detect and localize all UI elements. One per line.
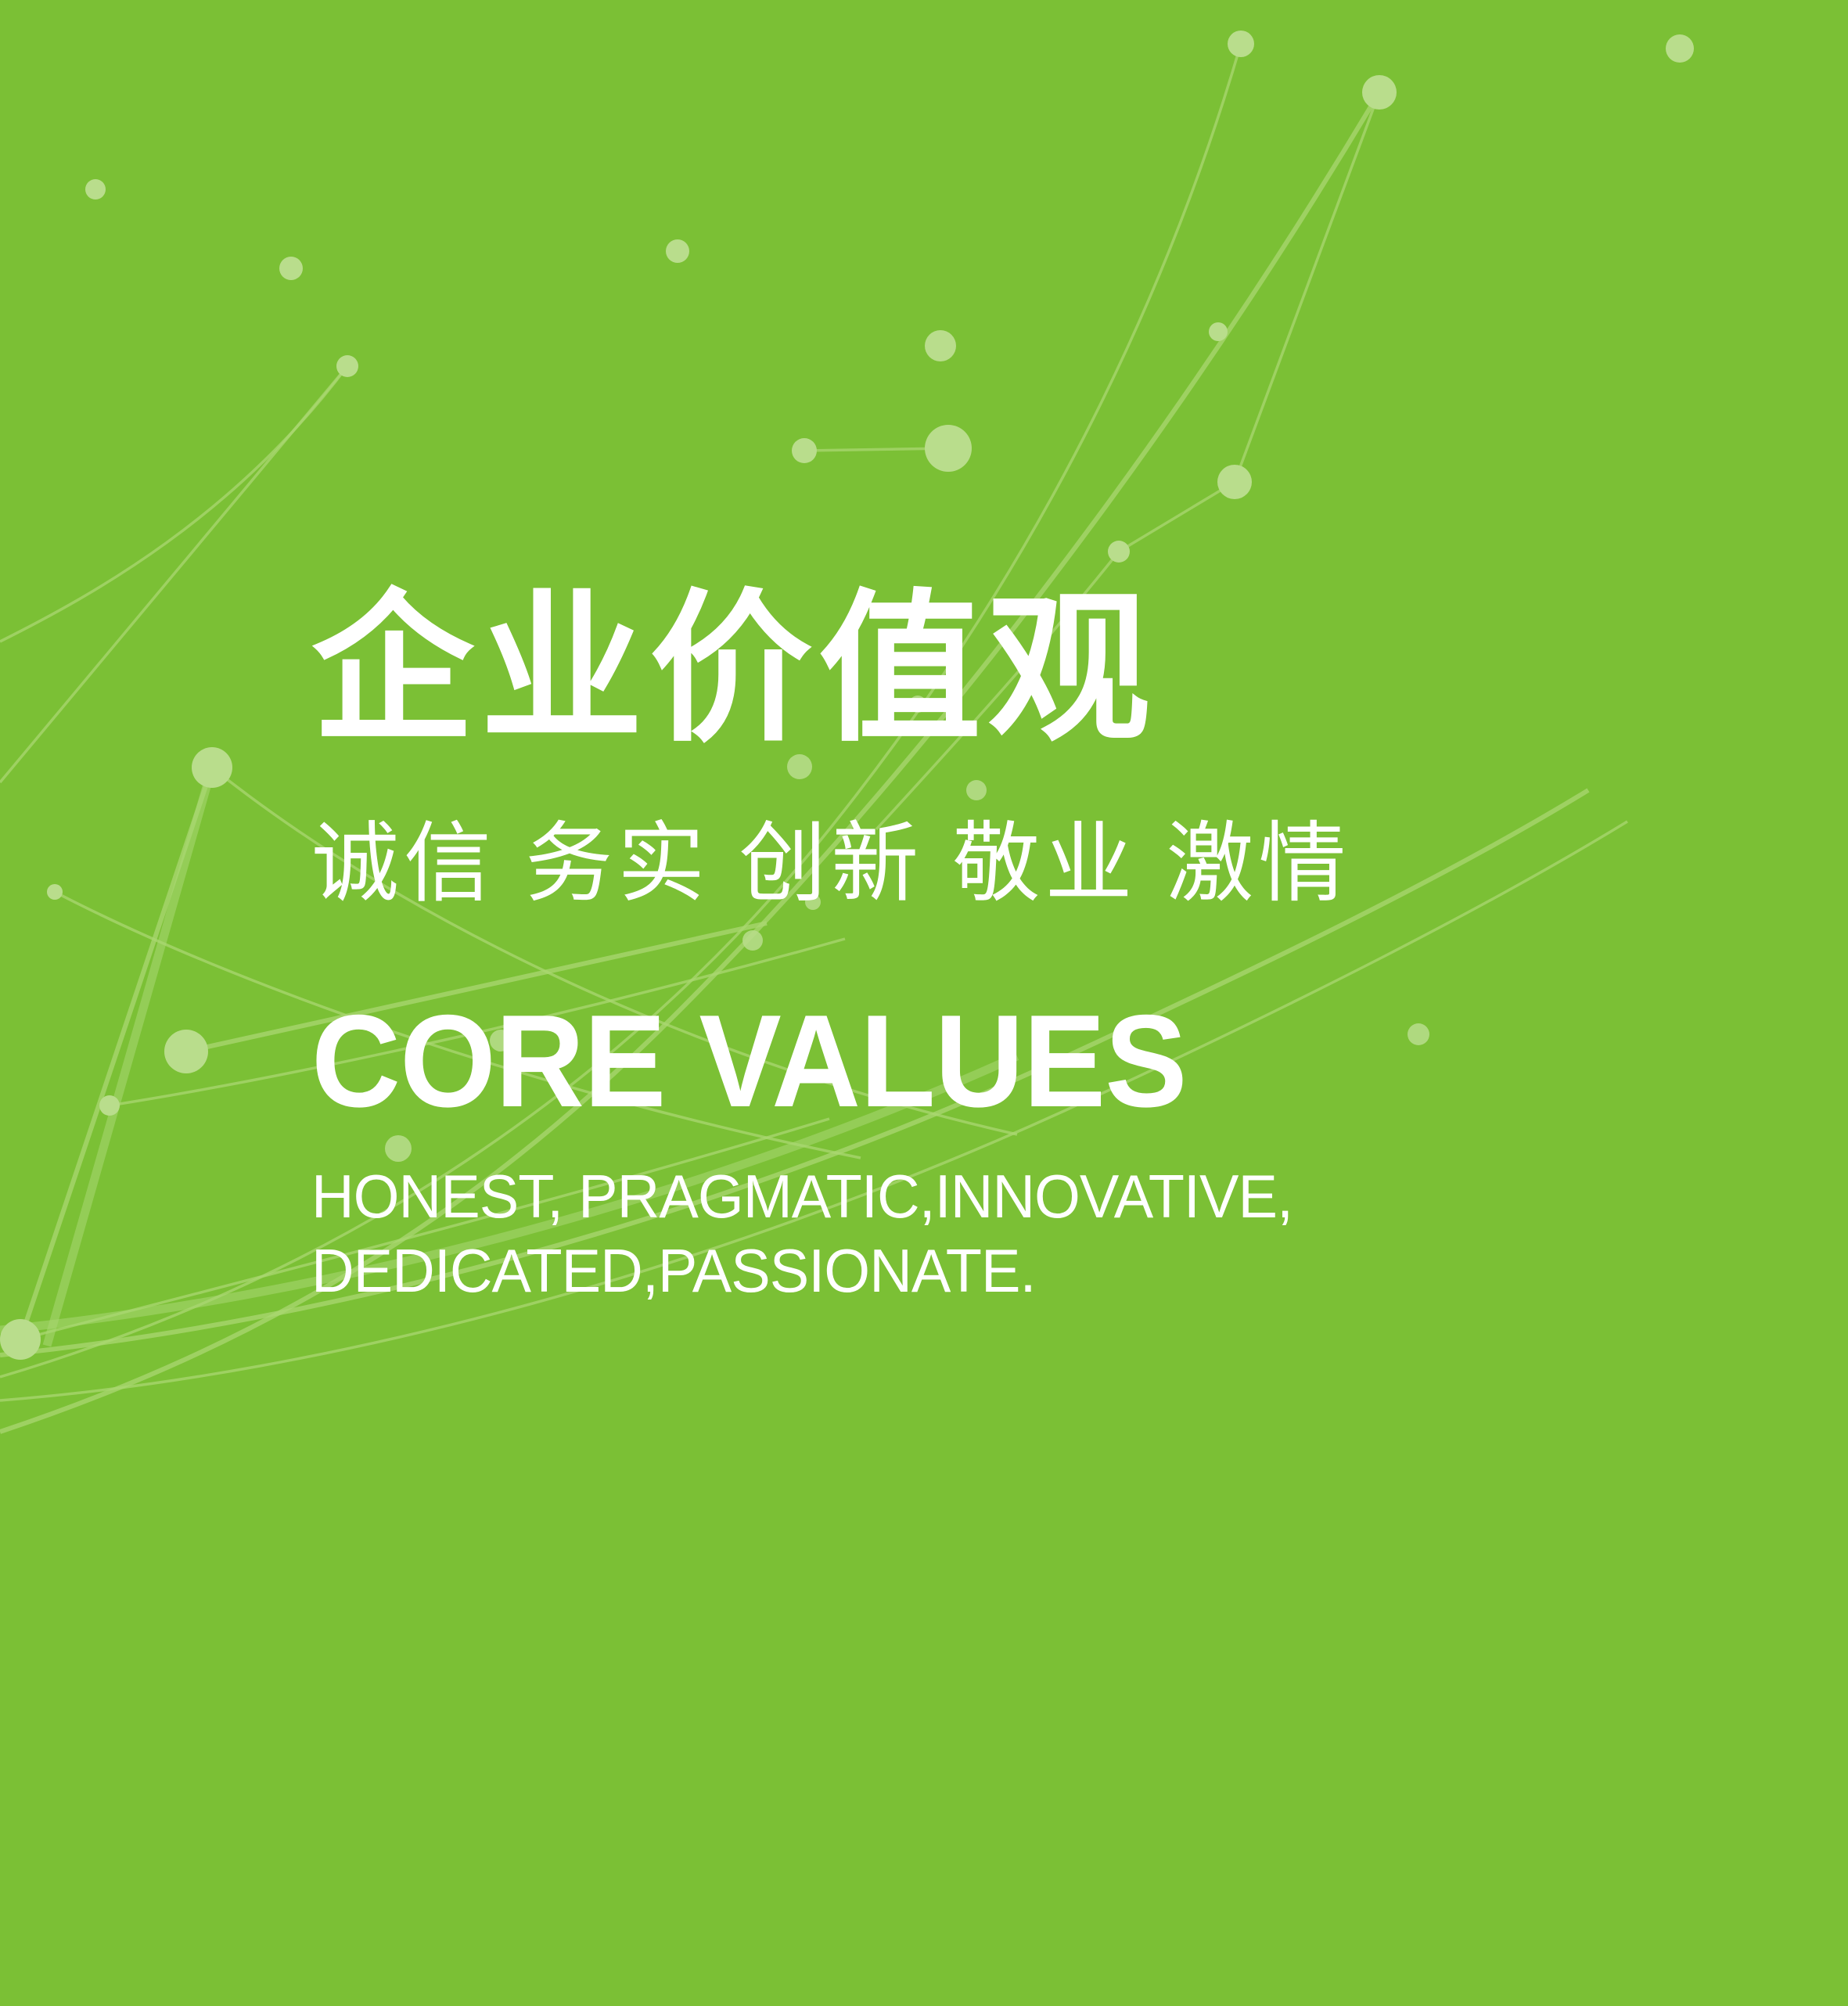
network-node: [1108, 541, 1130, 563]
network-node: [99, 1095, 120, 1116]
network-node: [164, 1030, 208, 1073]
network-node: [925, 425, 972, 472]
network-node: [0, 1319, 41, 1360]
edge-cluster-a: [47, 768, 212, 1346]
network-node: [1228, 31, 1254, 57]
network-node: [1362, 75, 1397, 110]
network-node: [666, 239, 689, 263]
edge-right-e: [0, 366, 347, 782]
network-node: [1209, 322, 1228, 341]
subtitle-chinese: 诚信 务实 创新 敬业 激情: [311, 820, 1688, 908]
network-node: [279, 257, 303, 280]
edge-right-a: [1235, 92, 1379, 482]
network-node: [1666, 34, 1694, 63]
network-node: [336, 355, 358, 377]
page-title-chinese: 企业价值观: [311, 588, 1688, 751]
network-node: [85, 179, 106, 200]
network-node: [925, 330, 956, 361]
edge-right-b: [1119, 482, 1235, 552]
network-node: [1217, 465, 1252, 499]
body-text-english: HONEST, PRAGMATIC,INNOVATIVE, DEDICATED,…: [311, 1159, 1647, 1308]
network-node: [792, 438, 817, 463]
poster-canvas: .nline { fill: none; stroke: #a9d772; st…: [0, 0, 1848, 2006]
body-text-english-line-2: DEDICATED,PASSIONATE.: [311, 1234, 1647, 1308]
network-node: [192, 747, 232, 788]
edge-cluster-b: [20, 768, 212, 1339]
body-text-english-line-1: HONEST, PRAGMATIC,INNOVATIVE,: [311, 1159, 1647, 1234]
network-node: [47, 884, 63, 900]
page-title-english: CORE VALUES: [311, 995, 1605, 1127]
edge-right-d: [804, 448, 948, 451]
text-block: 企业价值观 诚信 务实 创新 敬业 激情 CORE VALUES HONEST,…: [311, 588, 1688, 1308]
curve-upper-left: [0, 366, 347, 642]
